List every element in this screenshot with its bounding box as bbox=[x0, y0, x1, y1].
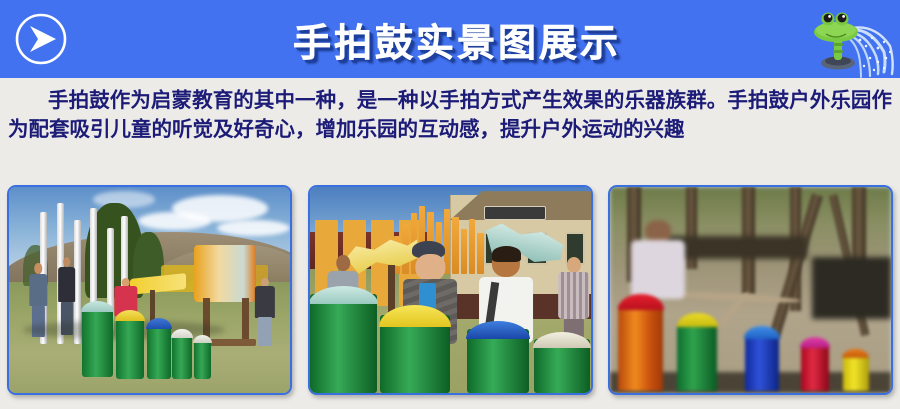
drum-green bbox=[677, 323, 716, 391]
drum-yellow bbox=[843, 356, 868, 391]
description-block: 手拍鼓作为启蒙教育的其中一种，是一种以手拍方式产生效果的乐器族群。手拍鼓户外乐园… bbox=[0, 78, 900, 144]
photo-colorful-drums-closeup[interactable] bbox=[608, 185, 893, 395]
chime-post bbox=[242, 298, 249, 343]
drum bbox=[194, 339, 211, 378]
description-text: 手拍鼓作为启蒙教育的其中一种，是一种以手拍方式产生效果的乐器族群。手拍鼓户外乐园… bbox=[8, 86, 892, 144]
drum-orange bbox=[618, 304, 663, 391]
child bbox=[557, 257, 591, 344]
person bbox=[253, 278, 275, 346]
drum bbox=[380, 315, 450, 393]
drum-blue bbox=[745, 335, 779, 391]
frog-water-sprinkler-icon bbox=[800, 0, 896, 78]
dark-structure bbox=[812, 257, 891, 319]
hair bbox=[492, 246, 521, 261]
photo-children-playing-drums[interactable] bbox=[308, 185, 593, 395]
photo-2-scene bbox=[310, 187, 591, 393]
page-header: 手拍鼓实景图展示 bbox=[0, 0, 900, 78]
photo-playground-green-drums[interactable] bbox=[7, 185, 292, 395]
drum bbox=[534, 339, 590, 393]
drum-red bbox=[801, 346, 829, 391]
photo-3-scene bbox=[610, 187, 891, 393]
photo-1-scene bbox=[9, 187, 290, 393]
drum bbox=[172, 333, 192, 378]
drum bbox=[310, 294, 377, 393]
drum bbox=[82, 306, 113, 376]
page-title: 手拍鼓实景图展示 bbox=[0, 0, 900, 78]
drum bbox=[116, 315, 144, 379]
drum bbox=[467, 329, 529, 393]
page-title-text: 手拍鼓实景图展示 bbox=[293, 12, 621, 67]
chime-panel bbox=[194, 245, 256, 303]
page-root: 手拍鼓实景图展示 bbox=[0, 0, 900, 409]
station-sign bbox=[484, 206, 546, 220]
photo-gallery bbox=[0, 185, 900, 400]
drum bbox=[147, 323, 171, 379]
